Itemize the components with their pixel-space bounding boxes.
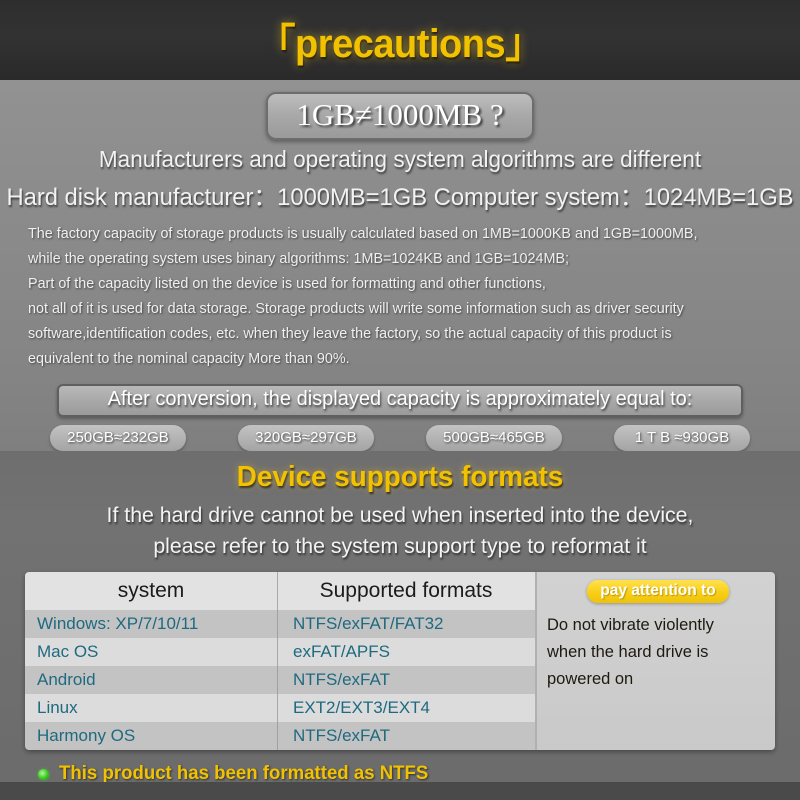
paragraph-line: equivalent to the nominal capacity More …: [28, 347, 765, 372]
capacity-pill: 320GB≈297GB: [238, 425, 374, 451]
column-divider: [277, 694, 278, 722]
table-cell-formats: NTFS/exFAT: [277, 670, 535, 690]
precautions-infographic: 「precautions」 1GB≠1000MB ? Manufacturers…: [0, 0, 800, 800]
page-header: 「precautions」: [0, 0, 800, 80]
table-cell-system: Linux: [25, 698, 277, 718]
table-row: Android NTFS/exFAT: [25, 666, 535, 694]
column-divider: [277, 722, 278, 750]
paragraph-line: not all of it is used for data storage. …: [28, 297, 765, 322]
green-dot-icon: [38, 769, 49, 780]
capacity-pill: 1 T B ≈930GB: [614, 425, 750, 451]
supported-formats-section: Device supports formats If the hard driv…: [0, 451, 800, 800]
attention-line: Do not vibrate violently: [547, 612, 769, 639]
conversion-bar-row: After conversion, the displayed capacity…: [0, 384, 800, 417]
lead-line-2: Hard disk manufacturer：1000MB=1GB Comput…: [4, 177, 796, 212]
capacity-pill: 250GB≈232GB: [50, 425, 186, 451]
column-divider: [277, 638, 278, 666]
paragraph-line: while the operating system uses binary a…: [28, 247, 765, 272]
explanation-paragraph: The factory capacity of storage products…: [0, 222, 800, 372]
capacity-explanation-section: 1GB≠1000MB ? Manufacturers and operating…: [0, 80, 800, 451]
lead-line-1: Manufacturers and operating system algor…: [8, 146, 792, 173]
bottom-strip: [0, 782, 800, 800]
table-cell-formats: exFAT/APFS: [277, 642, 535, 662]
table-cell-system: Windows: XP/7/10/11: [25, 614, 277, 634]
paragraph-line: The factory capacity of storage products…: [28, 222, 765, 247]
gb-badge-row: 1GB≠1000MB ?: [0, 92, 800, 140]
table-header-system: system: [25, 579, 277, 603]
column-divider: [277, 666, 278, 694]
attention-panel: pay attention to Do not vibrate violentl…: [535, 572, 775, 750]
attention-badge: pay attention to: [587, 580, 728, 603]
attention-line: when the hard drive is: [547, 639, 769, 666]
column-divider: [277, 610, 278, 638]
table-row: Harmony OS NTFS/exFAT: [25, 722, 535, 750]
table-row: Linux EXT2/EXT3/EXT4: [25, 694, 535, 722]
table-cell-system: Android: [25, 670, 277, 690]
conversion-bar: After conversion, the displayed capacity…: [57, 384, 743, 417]
section-two-title: Device supports formats: [16, 461, 784, 494]
table-cell-formats: NTFS/exFAT: [277, 726, 535, 746]
formats-table-block: system Supported formats Windows: XP/7/1…: [25, 572, 775, 750]
table-cell-system: Mac OS: [25, 642, 277, 662]
table-row: Windows: XP/7/10/11 NTFS/exFAT/FAT32: [25, 610, 535, 638]
table-cell-formats: EXT2/EXT3/EXT4: [277, 698, 535, 718]
paragraph-line: software,identification codes, etc. when…: [28, 322, 765, 347]
table-cell-system: Harmony OS: [25, 726, 277, 746]
attention-badge-row: pay attention to: [547, 580, 769, 603]
capacity-pill: 500GB≈465GB: [426, 425, 562, 451]
section-two-subtitle-line-2: please refer to the system support type …: [4, 531, 796, 562]
section-two-subtitle-line-1: If the hard drive cannot be used when in…: [4, 500, 796, 531]
gb-inequality-badge: 1GB≠1000MB ?: [266, 92, 533, 140]
formats-table: system Supported formats Windows: XP/7/1…: [25, 572, 535, 750]
table-header-row: system Supported formats: [25, 572, 535, 610]
column-divider: [277, 572, 278, 610]
attention-line: powered on: [547, 666, 769, 693]
paragraph-line: Part of the capacity listed on the devic…: [28, 272, 765, 297]
page-title: 「precautions」: [257, 11, 542, 69]
table-row: Mac OS exFAT/APFS: [25, 638, 535, 666]
table-cell-formats: NTFS/exFAT/FAT32: [277, 614, 535, 634]
attention-body: Do not vibrate violently when the hard d…: [547, 612, 769, 693]
capacity-pill-row: 250GB≈232GB 320GB≈297GB 500GB≈465GB 1 T …: [0, 417, 800, 451]
table-header-formats: Supported formats: [277, 579, 535, 603]
